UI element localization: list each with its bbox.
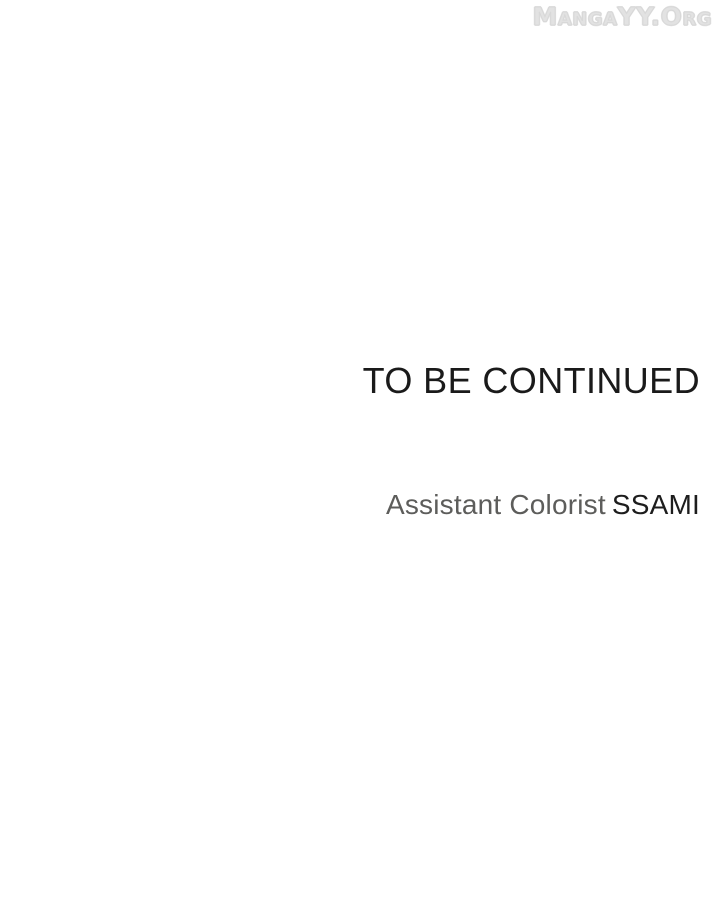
to-be-continued-text: TO BE CONTINUED (0, 360, 700, 402)
site-watermark: MangaYY.Org (532, 4, 712, 29)
assistant-colorist-credit: Assistant ColoristSSAMI (0, 488, 700, 522)
comic-page: MangaYY.Org TO BE CONTINUED Assistant Co… (0, 0, 720, 900)
credits-block: TO BE CONTINUED Assistant ColoristSSAMI (0, 360, 700, 522)
credit-role-label: Assistant Colorist (386, 489, 606, 520)
credit-artist-name: SSAMI (612, 489, 700, 520)
